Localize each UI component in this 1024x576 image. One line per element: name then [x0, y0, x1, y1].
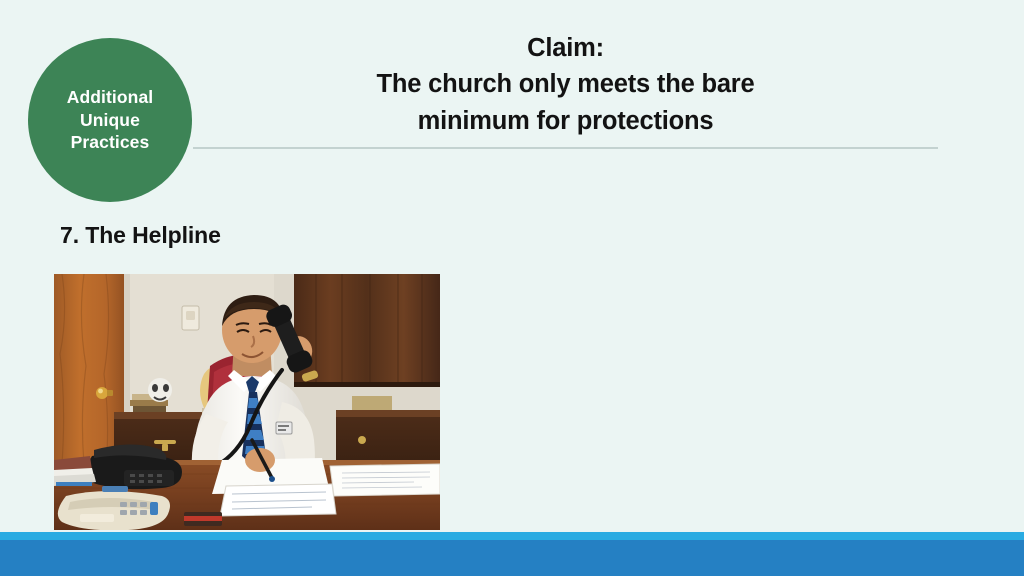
- title-line-3: minimum for protections: [193, 103, 938, 139]
- section-heading: 7. The Helpline: [60, 222, 221, 249]
- additional-unique-practices-badge: Additional Unique Practices: [28, 38, 192, 202]
- footer-accent-bar-dark: [0, 540, 1024, 576]
- title-divider: [193, 147, 938, 149]
- office-scene-illustration: [54, 274, 440, 530]
- helpline-photo: [54, 274, 440, 530]
- slide-title: Claim: The church only meets the bare mi…: [193, 30, 938, 139]
- footer-accent-bar-light: [0, 532, 1024, 540]
- title-line-2: The church only meets the bare: [193, 66, 938, 102]
- title-line-1: Claim:: [193, 30, 938, 66]
- badge-label: Additional Unique Practices: [67, 86, 154, 153]
